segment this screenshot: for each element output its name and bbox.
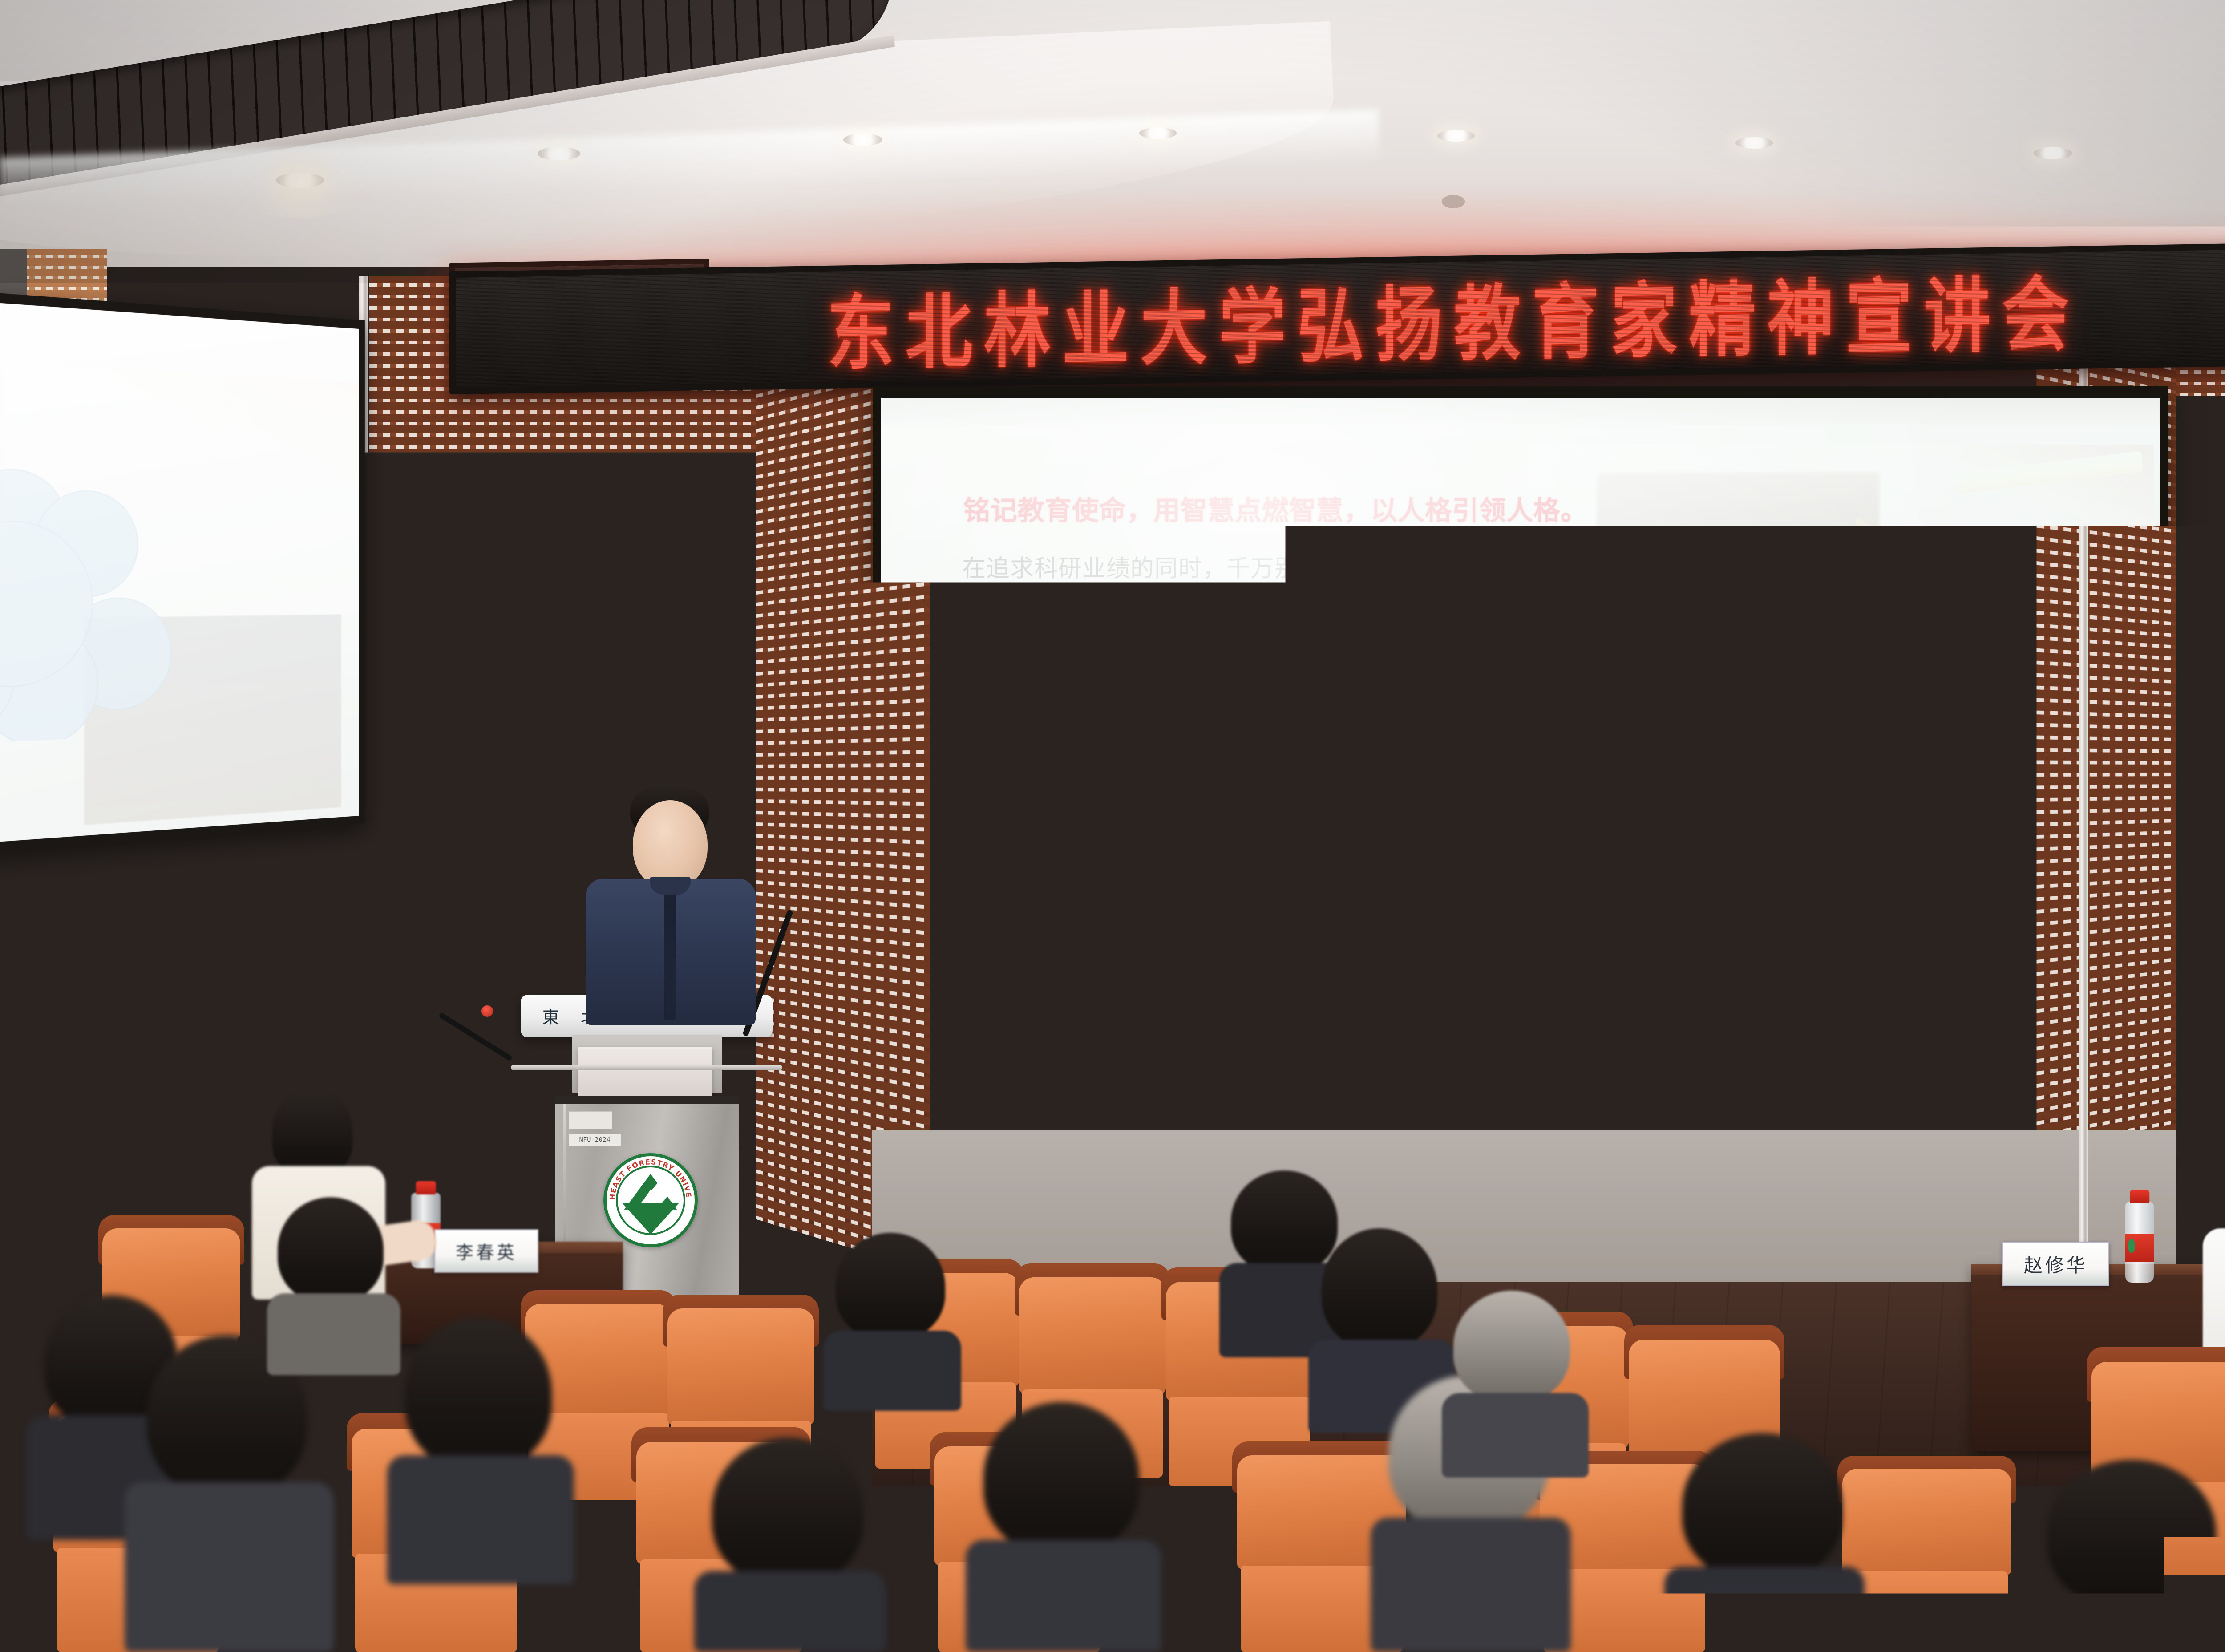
cloud-line-2: 老师的率先垂范对学生影响深远 <box>1195 791 1778 848</box>
slide-body-line-1: 在追求科研业绩的同时，千万别忘了你也在“科研 <box>962 545 1558 593</box>
slide-photo-foliage <box>1440 1045 2107 1133</box>
audience-hair <box>1322 1228 1437 1348</box>
podium-front-placard <box>578 1047 712 1096</box>
projection-screen-surface: 2020-6-24 铭记教育使命，用智慧点燃智慧，以人格引领人格。 在追求科研业… <box>881 398 2160 1133</box>
speaker-head <box>633 800 708 889</box>
right-table-nameplate: 赵修华 <box>2002 1242 2109 1286</box>
downlight-5 <box>1437 130 1475 142</box>
audience-torso <box>694 1571 886 1652</box>
audience-member <box>267 1197 400 1375</box>
audience-torso <box>1664 1567 1865 1652</box>
downlight-2 <box>538 147 580 160</box>
university-emblem: NORTHEAST FORESTRY UNIVERSITY 东北林业大学 195… <box>603 1153 698 1247</box>
audience-hair <box>983 1402 1139 1553</box>
speaker-shirt-placket <box>664 887 676 1020</box>
audience-member <box>387 1317 574 1584</box>
emblem-year: 1952 <box>603 1208 698 1217</box>
audience-torso <box>387 1455 574 1584</box>
audience-hair <box>1682 1433 1842 1580</box>
cloud-line-1: 把最好的自己展示给学生 <box>1195 734 1778 791</box>
audience-hair <box>712 1437 863 1584</box>
slide-footnote: 也影响着后人对你的评价 <box>1473 1097 1639 1118</box>
left-table-nameplate: 李春英 <box>434 1229 538 1273</box>
left-table-nameplate-text: 李春英 <box>456 1238 517 1264</box>
right-table-water-bottle <box>2125 1202 2154 1283</box>
audience-member <box>966 1402 1161 1652</box>
auditorium-photo: 东北林业大学弘扬教育家精神宣讲会 <box>0 0 2225 1652</box>
speaker-at-podium <box>583 783 752 1015</box>
podium-rail <box>511 1065 782 1070</box>
microphone-head-left <box>481 1005 493 1017</box>
led-banner-text: 东北林业大学弘扬教育家精神宣讲会 <box>816 248 2080 386</box>
audience-seat[interactable] <box>1842 1469 2011 1652</box>
podium-device-label-text: NFU-2024 <box>579 1137 611 1143</box>
speaker-collar <box>650 877 691 895</box>
cloud-callout-text: 把最好的自己展示给学生 老师的率先垂范对学生影响深远 我爸 老厉害了！ <box>1195 734 1778 905</box>
audience-torso <box>1371 1518 1571 1652</box>
audience-member <box>2029 1460 2225 1652</box>
screen-top-strip <box>881 398 2160 425</box>
audience-hair <box>836 1233 945 1340</box>
projection-screen-frame: 2020-6-24 铭记教育使命，用智慧点燃智慧，以人格引领人格。 在追求科研业… <box>873 386 2168 1143</box>
right-table-nameplate-text: 赵修华 <box>2024 1251 2088 1278</box>
audience-member <box>1664 1433 1865 1652</box>
side-projection-screen <box>0 288 365 855</box>
audience-torso <box>966 1540 1161 1652</box>
podium-sticker <box>569 1111 612 1129</box>
slide-cloud-callout: 把最好的自己展示给学生 老师的率先垂范对学生影响深远 我爸 老厉害了！ <box>1195 600 1778 1045</box>
downlight-1-glow <box>231 151 369 218</box>
audience-torso <box>267 1293 400 1375</box>
audience-hair <box>405 1317 552 1469</box>
audience-member <box>823 1233 961 1411</box>
downlight-3 <box>843 134 882 146</box>
audience-hair <box>278 1197 384 1302</box>
audience-hair <box>2047 1460 2216 1607</box>
audience-member <box>694 1437 886 1652</box>
podium-device-label: NFU-2024 <box>569 1134 621 1146</box>
audience-torso <box>1442 1393 1589 1478</box>
audience-torso <box>125 1482 334 1652</box>
audience-torso <box>823 1331 961 1411</box>
cloud-line-3: 我爸 老厉害了！ <box>1195 848 1778 905</box>
downlight-4 <box>1139 127 1177 139</box>
audience-hair-grey <box>1453 1291 1570 1402</box>
slide-headline: 铭记教育使命，用智慧点燃智慧，以人格引领人格。 <box>963 489 1588 528</box>
audience-member <box>125 1335 334 1652</box>
downlight-7 <box>2034 147 2072 159</box>
audience-member <box>1442 1291 1589 1478</box>
downlight-6 <box>1735 137 1773 149</box>
seated-person-left-hair <box>272 1090 352 1175</box>
slide-footnote-secondary: 科研育人的影响 <box>1050 1100 1150 1121</box>
